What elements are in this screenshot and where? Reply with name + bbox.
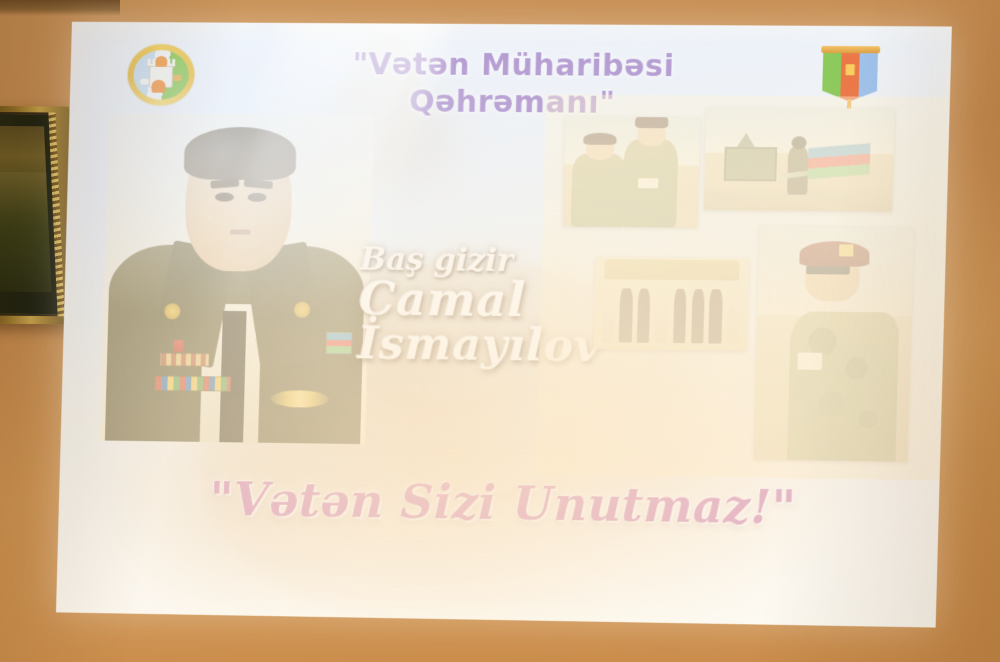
photo-scene: "Vətən Müharibəsi Qəhrəmanı" Baş gizir C… (0, 0, 1000, 662)
hero-portrait (100, 113, 374, 444)
projection-area: "Vətən Müharibəsi Qəhrəmanı" Baş gizir C… (0, 0, 1000, 662)
state-service-emblem (127, 44, 196, 106)
photo-two-soldiers (563, 117, 701, 228)
presentation-slide: "Vətən Müharibəsi Qəhrəmanı" Baş gizir C… (56, 22, 952, 628)
slide-slogan: "Vətən Sizi Unutmaz!" (153, 471, 854, 535)
photo-group-formation (593, 257, 748, 351)
photo-soldier-portrait (754, 226, 914, 461)
photo-flag-on-hilltop (704, 107, 895, 211)
slide-title-line1: "Vətən Müharibəsi (303, 47, 724, 86)
slide-title: "Vətən Müharibəsi Qəhrəmanı" (302, 47, 724, 123)
